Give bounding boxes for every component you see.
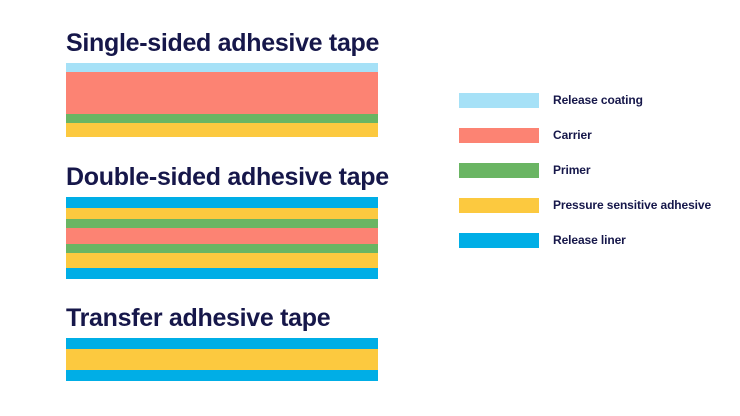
layer-stack-transfer xyxy=(66,338,378,381)
layer-pressure-sensitive-adhesive xyxy=(66,253,378,268)
diagram-double-sided: Double-sided adhesive tape xyxy=(66,162,378,279)
layer-release-coating xyxy=(66,63,378,72)
layer-stack-double-sided xyxy=(66,197,378,279)
layer-stack-single-sided xyxy=(66,63,378,137)
legend-item-release-coating: Release coating xyxy=(459,93,721,108)
stack-title-single-sided: Single-sided adhesive tape xyxy=(66,28,378,58)
adhesive-tape-diagram: Single-sided adhesive tape Double-sided … xyxy=(0,0,740,416)
legend-swatch-release-liner xyxy=(459,233,539,248)
layer-carrier xyxy=(66,228,378,244)
legend-swatch-primer xyxy=(459,163,539,178)
legend-swatch-pressure-sensitive-adhesive xyxy=(459,198,539,213)
legend: Release coatingCarrierPrimerPressure sen… xyxy=(459,93,721,248)
legend-item-carrier: Carrier xyxy=(459,128,721,143)
legend-label: Release liner xyxy=(553,233,626,248)
layer-release-liner xyxy=(66,268,378,279)
layer-release-liner xyxy=(66,197,378,208)
legend-label: Pressure sensitive adhesive xyxy=(553,198,711,213)
layer-pressure-sensitive-adhesive xyxy=(66,208,378,219)
layer-pressure-sensitive-adhesive xyxy=(66,349,378,370)
legend-item-pressure-sensitive-adhesive: Pressure sensitive adhesive xyxy=(459,198,721,213)
legend-swatch-carrier xyxy=(459,128,539,143)
stack-title-double-sided: Double-sided adhesive tape xyxy=(66,162,378,192)
layer-primer xyxy=(66,219,378,228)
stack-title-transfer: Transfer adhesive tape xyxy=(66,303,378,333)
layer-carrier xyxy=(66,72,378,114)
diagram-single-sided: Single-sided adhesive tape xyxy=(66,28,378,137)
layer-release-liner xyxy=(66,338,378,349)
legend-label: Primer xyxy=(553,163,590,178)
legend-label: Carrier xyxy=(553,128,592,143)
layer-primer xyxy=(66,114,378,123)
legend-swatch-release-coating xyxy=(459,93,539,108)
layer-primer xyxy=(66,244,378,253)
layer-release-liner xyxy=(66,370,378,381)
legend-item-release-liner: Release liner xyxy=(459,233,721,248)
legend-label: Release coating xyxy=(553,93,643,108)
layer-pressure-sensitive-adhesive xyxy=(66,123,378,137)
legend-item-primer: Primer xyxy=(459,163,721,178)
diagram-transfer: Transfer adhesive tape xyxy=(66,303,378,381)
